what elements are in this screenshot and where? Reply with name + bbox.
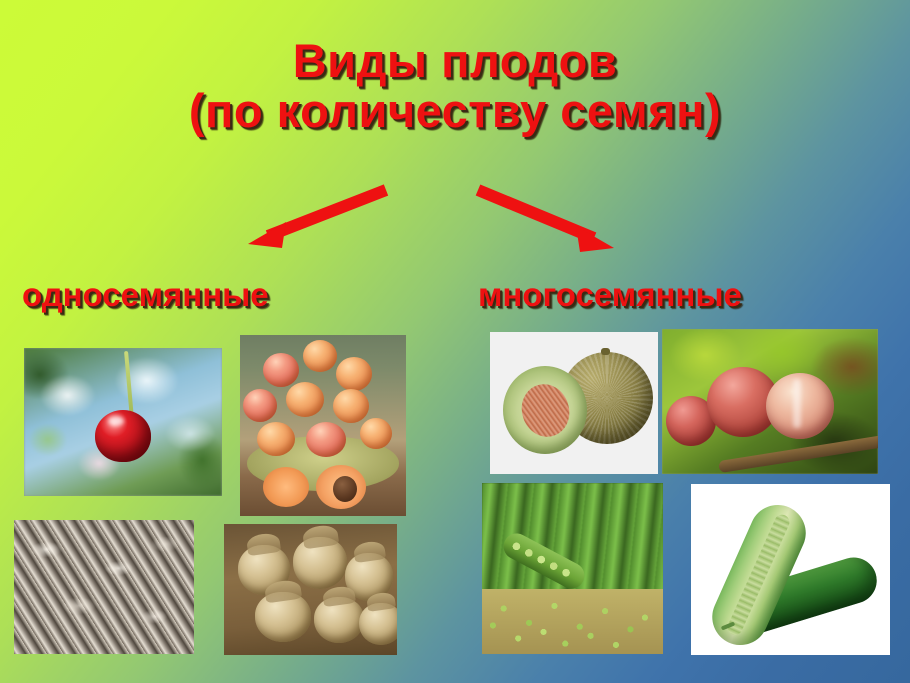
photo-apricots-in-bowl: Абрикосы в миске с разрезанным плодом и … [240, 335, 406, 516]
photo-melon: Дыня целая и в разрезе [490, 332, 658, 474]
page-title: Виды плодов (по количеству семян) [0, 36, 910, 137]
sunflower-seed-pile [14, 520, 194, 654]
melon-half-with-seeds [503, 366, 587, 454]
apricot-pit [333, 476, 357, 502]
category-label-multi-seeded: многосемянные [478, 276, 742, 314]
hazelnut [293, 537, 347, 589]
title-line-2: (по количеству семян) [0, 86, 910, 136]
photo-sunflower-seeds: Семена подсолнечника [14, 520, 194, 654]
melon-stem-stub [601, 348, 610, 355]
apricot-fruit [336, 357, 372, 391]
category-label-single-seeded: односемянные [22, 276, 269, 314]
apricot-fruit [306, 422, 346, 457]
hazelnut [255, 592, 311, 642]
photo-gooseberries: Крыжовник на ветке [662, 329, 878, 474]
apricot-fruit [333, 389, 369, 423]
hazelnut [314, 597, 364, 643]
photo-hazelnuts: Лесные орехи (фундук) [224, 524, 397, 655]
arrow-to-single-seeded [248, 190, 386, 248]
hazelnut [359, 603, 397, 645]
gooseberry-fruit [766, 373, 834, 439]
loose-peas-pile [482, 589, 663, 654]
apricot-fruit [360, 418, 392, 449]
arrow-to-multi-seeded [478, 190, 614, 252]
photo-pea-pods: Стручки гороха и горошины [482, 483, 663, 654]
photo-cherry-on-tree: Вишня на ветке [24, 348, 222, 496]
cherry-fruit [95, 410, 151, 462]
photo-cucumbers: Огурцы целый и в разрезе [691, 484, 890, 655]
title-line-1: Виды плодов [0, 36, 910, 86]
apricot-fruit [257, 422, 295, 456]
slide-canvas: Виды плодов (по количеству семян) односе… [0, 0, 910, 683]
